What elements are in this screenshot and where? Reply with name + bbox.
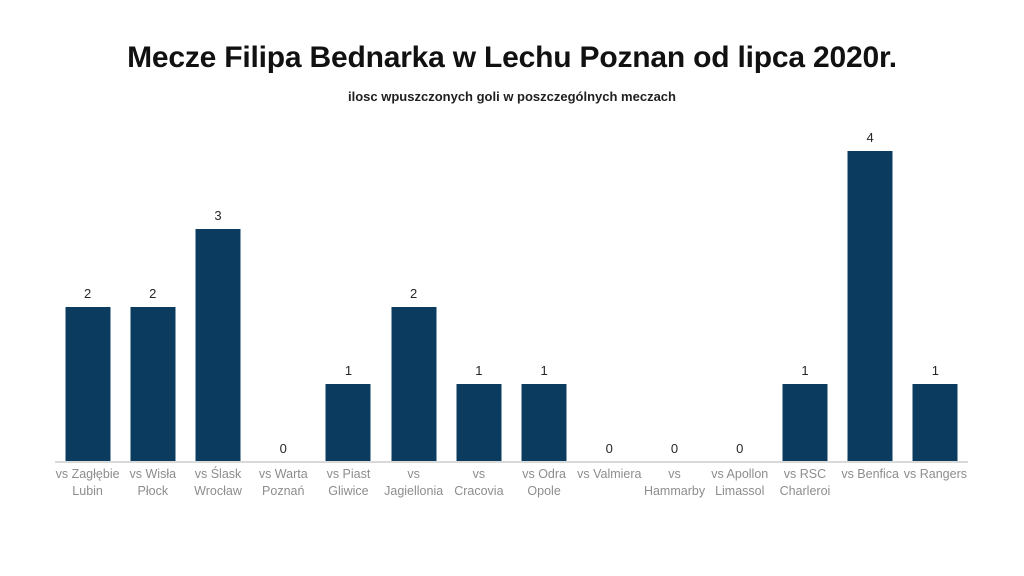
bar-group[interactable]: 0 xyxy=(642,120,707,462)
bar-group[interactable]: 2 xyxy=(120,120,185,462)
x-axis-tick-label: vs Cracovia xyxy=(446,466,511,500)
bar-chart: Mecze Filipa Bednarka w Lechu Poznan od … xyxy=(0,0,1024,576)
bar[interactable] xyxy=(130,307,175,462)
bar-value-label: 0 xyxy=(671,441,678,456)
bar[interactable] xyxy=(848,151,893,462)
bar[interactable] xyxy=(391,307,436,462)
bar-group[interactable]: 1 xyxy=(772,120,837,462)
x-axis-tick-label: vs Wisła Płock xyxy=(120,466,185,500)
x-axis-tick-label: vs Zagłębie Lubin xyxy=(55,466,120,500)
x-axis-tick-label: vs RSC Charleroi xyxy=(772,466,837,500)
bar-group[interactable]: 0 xyxy=(251,120,316,462)
bar-value-label: 3 xyxy=(214,208,221,223)
x-axis-tick-label: vs Valmiera xyxy=(577,466,642,483)
bar[interactable] xyxy=(65,307,110,462)
bar-value-label: 2 xyxy=(84,286,91,301)
bar-value-label: 0 xyxy=(736,441,743,456)
bar-group[interactable]: 2 xyxy=(381,120,446,462)
bar-value-label: 1 xyxy=(475,363,482,378)
bar-group[interactable]: 0 xyxy=(577,120,642,462)
bar-group[interactable]: 2 xyxy=(55,120,120,462)
bar-value-label: 2 xyxy=(410,286,417,301)
x-axis-tick-label: vs Odra Opole xyxy=(512,466,577,500)
bars-layer: 22301211000141 xyxy=(55,120,968,462)
bar-group[interactable]: 1 xyxy=(903,120,968,462)
bar-value-label: 1 xyxy=(345,363,352,378)
x-axis-tick-label: vs Piast Gliwice xyxy=(316,466,381,500)
x-axis-tick-label: vs Jagiellonia xyxy=(381,466,446,500)
bar[interactable] xyxy=(196,229,241,462)
chart-title: Mecze Filipa Bednarka w Lechu Poznan od … xyxy=(0,41,1024,75)
bar-group[interactable]: 1 xyxy=(316,120,381,462)
bar[interactable] xyxy=(522,384,567,462)
bar-value-label: 0 xyxy=(280,441,287,456)
bar[interactable] xyxy=(913,384,958,462)
bar-value-label: 1 xyxy=(540,363,547,378)
bar-value-label: 4 xyxy=(867,130,874,145)
bar[interactable] xyxy=(782,384,827,462)
bar-value-label: 1 xyxy=(932,363,939,378)
category-labels: vs Zagłębie Lubinvs Wisła Płockvs Ślask … xyxy=(55,466,968,566)
bar-value-label: 2 xyxy=(149,286,156,301)
bar[interactable] xyxy=(326,384,371,462)
x-axis-tick-label: vs Ślask Wrocław xyxy=(185,466,250,500)
bar-group[interactable]: 4 xyxy=(838,120,903,462)
bar-group[interactable]: 3 xyxy=(185,120,250,462)
bar-value-label: 1 xyxy=(801,363,808,378)
bar[interactable] xyxy=(456,384,501,462)
x-axis-line xyxy=(55,461,968,463)
x-axis-tick-label: vs Hammarby xyxy=(642,466,707,500)
x-axis-tick-label: vs Rangers xyxy=(903,466,968,483)
bar-value-label: 0 xyxy=(606,441,613,456)
x-axis-tick-label: vs Apollon Limassol xyxy=(707,466,772,500)
bar-group[interactable]: 1 xyxy=(446,120,511,462)
x-axis-tick-label: vs Warta Poznań xyxy=(251,466,316,500)
bar-group[interactable]: 0 xyxy=(707,120,772,462)
bar-group[interactable]: 1 xyxy=(512,120,577,462)
x-axis-tick-label: vs Benfica xyxy=(838,466,903,483)
chart-subtitle: ilosc wpuszczonych goli w poszczególnych… xyxy=(0,89,1024,104)
